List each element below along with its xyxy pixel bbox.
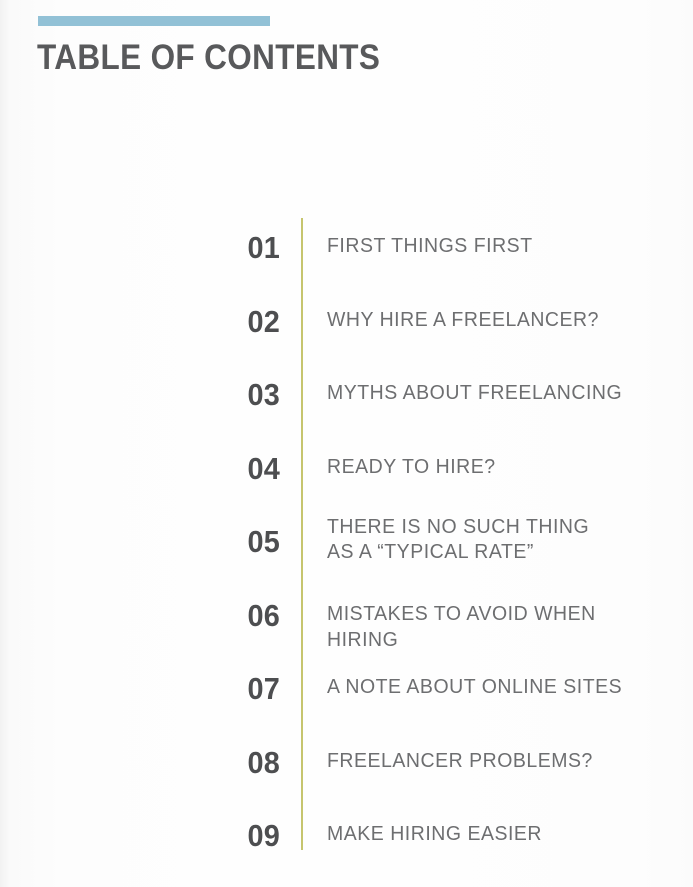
slide-canvas: TABLE OF CONTENTS 01FIRST THINGS FIRST02… [0,0,693,887]
toc-item-number: 04 [187,451,280,487]
toc-item[interactable]: 02WHY HIRE A FREELANCER? [0,304,693,364]
toc-item[interactable]: 09MAKE HIRING EASIER [0,818,693,878]
toc-item[interactable]: 06MISTAKES TO AVOID WHEN HIRING [0,598,693,658]
toc-item-label: WHY HIRE A FREELANCER? [327,307,660,333]
toc-item[interactable]: 04READY TO HIRE? [0,451,693,511]
table-of-contents: 01FIRST THINGS FIRST02WHY HIRE A FREELAN… [0,218,693,850]
toc-item[interactable]: 01FIRST THINGS FIRST [0,230,693,290]
title-accent-bar [38,16,270,26]
toc-item-number: 06 [187,598,280,634]
toc-item-label: FREELANCER PROBLEMS? [327,748,660,774]
toc-item-label: THERE IS NO SUCH THING AS A “TYPICAL RAT… [327,514,660,564]
page-title: TABLE OF CONTENTS [37,36,380,80]
toc-item-number: 09 [187,818,280,854]
toc-item[interactable]: 07A NOTE ABOUT ONLINE SITES [0,671,693,731]
toc-item-number: 05 [187,524,280,560]
toc-item-number: 07 [187,671,280,707]
toc-item-number: 02 [187,304,280,340]
toc-item[interactable]: 05THERE IS NO SUCH THING AS A “TYPICAL R… [0,524,693,584]
toc-item-label: MISTAKES TO AVOID WHEN HIRING [327,601,660,653]
toc-item-number: 03 [187,377,280,413]
toc-item-label: FIRST THINGS FIRST [327,233,660,259]
toc-item-label: READY TO HIRE? [327,454,660,480]
toc-item-number: 01 [187,230,280,266]
toc-item[interactable]: 03MYTHS ABOUT FREELANCING [0,377,693,437]
toc-item-label: A NOTE ABOUT ONLINE SITES [327,674,660,700]
toc-item-label: MAKE HIRING EASIER [327,821,660,847]
toc-item-number: 08 [187,745,280,781]
toc-item-label: MYTHS ABOUT FREELANCING [327,380,660,406]
toc-item[interactable]: 08FREELANCER PROBLEMS? [0,745,693,805]
